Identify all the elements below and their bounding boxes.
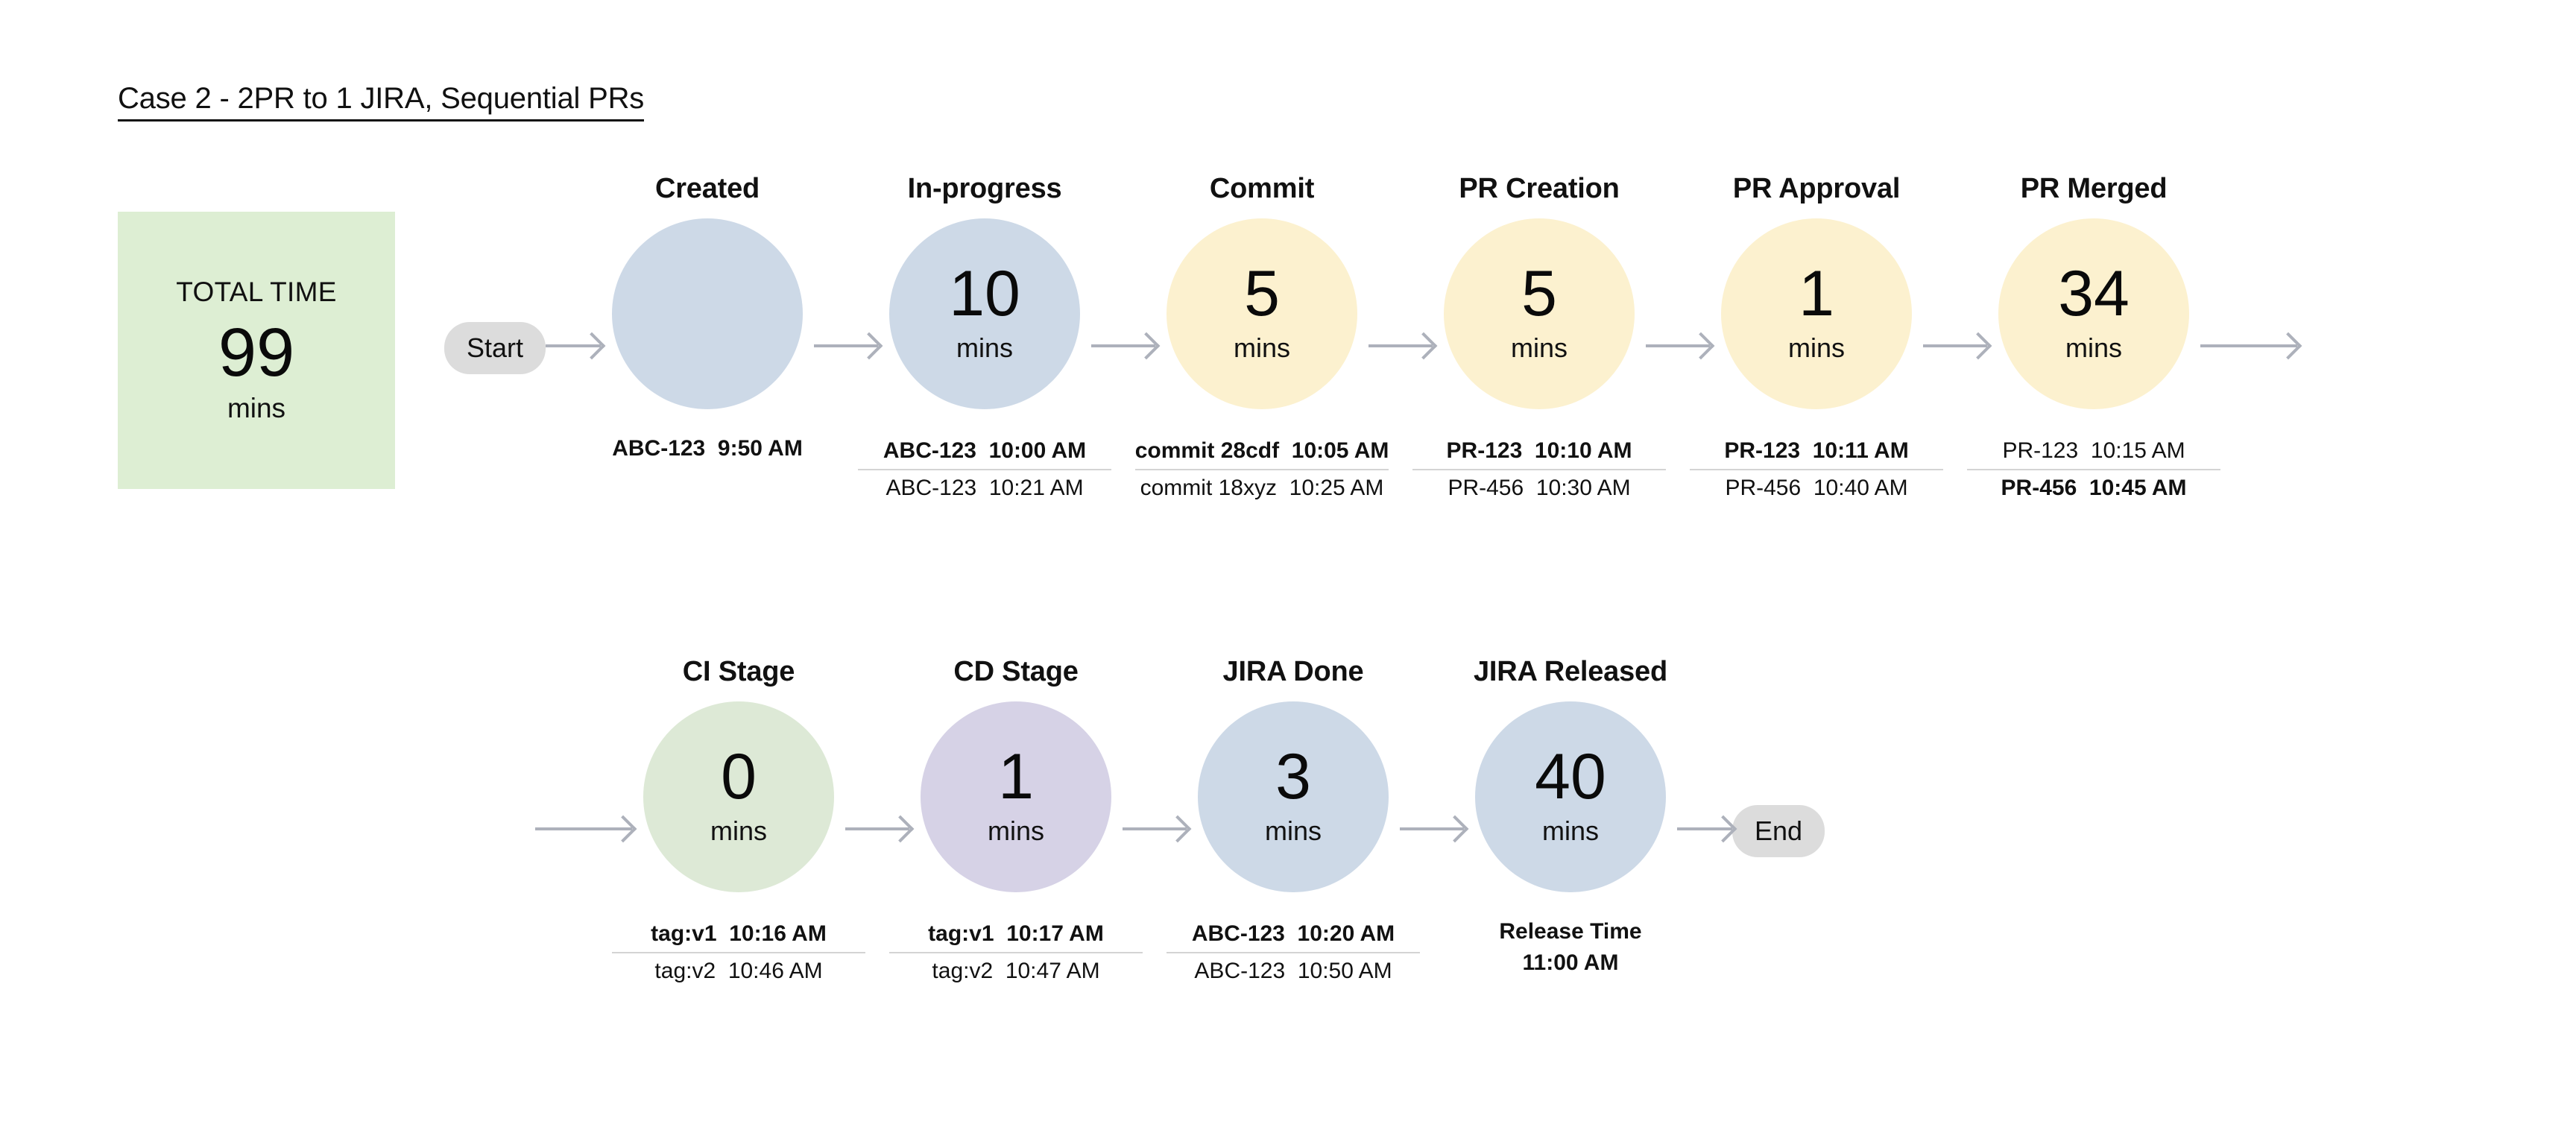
node-meta: tag:v1 10:16 AMtag:v2 10:46 AM	[612, 916, 865, 989]
node-duration-value: 5	[1244, 264, 1280, 325]
flow-node[interactable]: PR Approval1minsPR-123 10:11 AMPR-456 10…	[1710, 173, 1923, 506]
node-circle[interactable]: 40mins	[1475, 701, 1666, 892]
node-duration-unit: mins	[710, 815, 767, 847]
node-duration-unit: mins	[1511, 332, 1568, 364]
flow-node[interactable]: CI Stage0minstag:v1 10:16 AMtag:v2 10:46…	[632, 656, 845, 989]
start-badge[interactable]: Start	[444, 322, 546, 374]
node-meta-line: 11:00 AM	[1523, 947, 1619, 979]
node-duration-value: 10	[949, 264, 1020, 325]
node-meta: PR-123 10:11 AMPR-456 10:40 AM	[1690, 433, 1943, 506]
end-badge[interactable]: End	[1732, 805, 1825, 857]
node-meta-line: ABC-123 10:00 AM	[883, 433, 1086, 469]
node-duration-value: 1	[1799, 264, 1834, 325]
node-meta: PR-123 10:10 AMPR-456 10:30 AM	[1412, 433, 1666, 506]
node-duration-value: 34	[2058, 264, 2130, 325]
flow-node[interactable]: JIRA Released40minsRelease Time11:00 AM	[1464, 656, 1677, 979]
node-meta-line: tag:v1 10:17 AM	[928, 916, 1104, 952]
node-duration-unit: mins	[2065, 332, 2122, 364]
node-meta-line: PR-123 10:11 AM	[1724, 433, 1908, 469]
total-time-card: TOTAL TIME 99 mins	[118, 212, 395, 489]
node-duration-value: 1	[998, 747, 1034, 808]
connector-arrow-tail	[2200, 344, 2297, 347]
node-title: PR Merged	[2021, 173, 2168, 205]
total-time-unit: mins	[227, 393, 285, 424]
node-title: CI Stage	[683, 656, 795, 688]
flow-node[interactable]: Commit5minscommit 28cdf 10:05 AMcommit 1…	[1155, 173, 1368, 506]
node-title: PR Creation	[1459, 173, 1619, 205]
node-title: In-progress	[908, 173, 1062, 205]
node-meta: Release Time11:00 AM	[1444, 916, 1697, 979]
node-circle[interactable]: 10mins	[889, 218, 1080, 409]
node-title: Commit	[1210, 173, 1314, 205]
connector-arrow	[1646, 344, 1710, 347]
connector-arrow	[1400, 827, 1464, 830]
total-time-value: 99	[218, 317, 294, 389]
node-duration-value: 40	[1535, 747, 1606, 808]
node-circle[interactable]: 5mins	[1444, 218, 1635, 409]
node-meta-line: ABC-123 10:21 AM	[885, 470, 1083, 506]
node-meta-line: PR-456 10:30 AM	[1448, 470, 1630, 506]
flow-node[interactable]: CreatedABC-123 9:50 AM	[601, 173, 814, 464]
node-meta: commit 28cdf 10:05 AMcommit 18xyz 10:25 …	[1135, 433, 1389, 506]
node-circle[interactable]: 1mins	[1721, 218, 1912, 409]
node-circle[interactable]: 3mins	[1198, 701, 1389, 892]
flow-node[interactable]: In-progress10minsABC-123 10:00 AMABC-123…	[878, 173, 1091, 506]
node-meta-line: ABC-123 10:50 AM	[1194, 953, 1392, 989]
node-circle[interactable]	[612, 218, 803, 409]
node-meta-line: ABC-123 9:50 AM	[612, 433, 803, 464]
node-title: Created	[655, 173, 760, 205]
node-duration-value: 0	[721, 747, 757, 808]
node-duration-unit: mins	[1265, 815, 1322, 847]
node-meta-line: PR-123 10:10 AM	[1447, 433, 1632, 469]
connector-arrow	[1923, 344, 1987, 347]
node-meta-line: PR-123 10:15 AM	[2002, 433, 2185, 469]
node-title: PR Approval	[1733, 173, 1900, 205]
node-duration-unit: mins	[988, 815, 1044, 847]
node-meta-line: tag:v2 10:47 AM	[932, 953, 1099, 989]
node-circle[interactable]: 1mins	[921, 701, 1111, 892]
node-circle[interactable]: 5mins	[1167, 218, 1357, 409]
connector-arrow	[546, 344, 601, 347]
node-circle[interactable]: 0mins	[643, 701, 834, 892]
node-meta-line: ABC-123 10:20 AM	[1192, 916, 1395, 952]
node-title: JIRA Done	[1223, 656, 1364, 688]
node-title: JIRA Released	[1474, 656, 1667, 688]
flow-node[interactable]: CD Stage1minstag:v1 10:17 AMtag:v2 10:47…	[909, 656, 1123, 989]
node-duration-unit: mins	[1234, 332, 1290, 364]
node-meta-line: PR-456 10:45 AM	[2001, 470, 2187, 506]
node-meta: tag:v1 10:17 AMtag:v2 10:47 AM	[889, 916, 1143, 989]
connector-arrow	[1368, 344, 1433, 347]
flow-node[interactable]: JIRA Done3minsABC-123 10:20 AMABC-123 10…	[1187, 656, 1400, 989]
connector-arrow-head	[535, 827, 632, 830]
flow-node[interactable]: PR Merged34minsPR-123 10:15 AMPR-456 10:…	[1987, 173, 2200, 506]
node-meta-line: Release Time	[1499, 916, 1641, 947]
node-title: CD Stage	[953, 656, 1078, 688]
node-meta-line: PR-456 10:40 AM	[1725, 470, 1907, 506]
flow-node[interactable]: PR Creation5minsPR-123 10:10 AMPR-456 10…	[1433, 173, 1646, 506]
node-meta-line: tag:v2 10:46 AM	[654, 953, 822, 989]
node-meta: PR-123 10:15 AMPR-456 10:45 AM	[1967, 433, 2220, 506]
node-circle[interactable]: 34mins	[1998, 218, 2189, 409]
node-duration-unit: mins	[1542, 815, 1599, 847]
node-duration-value: 5	[1521, 264, 1557, 325]
connector-arrow	[1123, 827, 1187, 830]
page-title: Case 2 - 2PR to 1 JIRA, Sequential PRs	[118, 82, 644, 122]
node-meta: ABC-123 9:50 AM	[581, 433, 834, 464]
connector-arrow	[814, 344, 878, 347]
node-meta: ABC-123 10:20 AMABC-123 10:50 AM	[1167, 916, 1420, 989]
connector-arrow	[845, 827, 909, 830]
flow-row-1: Start CreatedABC-123 9:50 AMIn-progress1…	[444, 173, 2297, 506]
node-duration-unit: mins	[1788, 332, 1845, 364]
node-meta-line: commit 28cdf 10:05 AM	[1135, 433, 1389, 469]
node-meta-line: commit 18xyz 10:25 AM	[1140, 470, 1384, 506]
connector-arrow	[1677, 827, 1732, 830]
node-duration-value: 3	[1275, 747, 1311, 808]
total-time-label: TOTAL TIME	[176, 277, 336, 308]
node-duration-unit: mins	[956, 332, 1013, 364]
flow-row-2: CI Stage0minstag:v1 10:16 AMtag:v2 10:46…	[535, 656, 1825, 989]
connector-arrow	[1091, 344, 1155, 347]
node-meta: ABC-123 10:00 AMABC-123 10:21 AM	[858, 433, 1111, 506]
node-meta-line: tag:v1 10:16 AM	[651, 916, 827, 952]
